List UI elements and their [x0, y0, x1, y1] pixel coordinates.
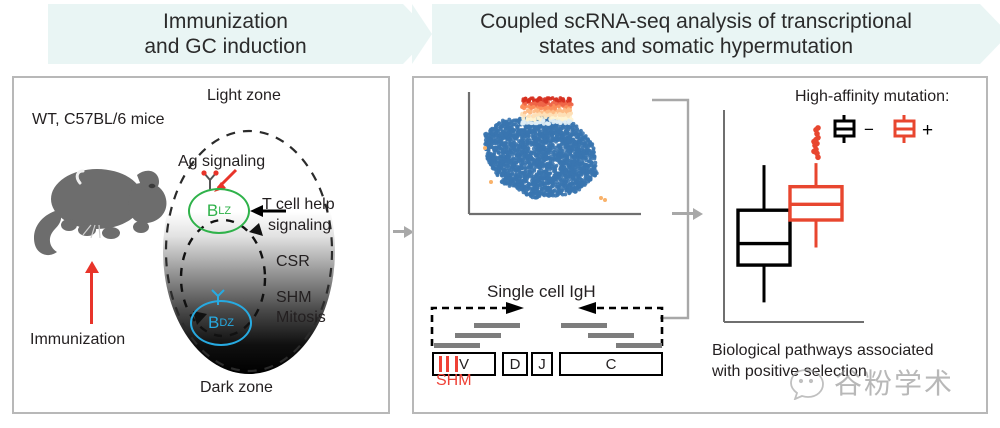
read-segment: [561, 323, 607, 328]
shm-label-gc: SHM: [276, 288, 312, 307]
shm-tick-icon: [455, 356, 458, 372]
gene-segment-d: D: [502, 352, 528, 376]
watermark: 谷粉学术: [790, 358, 980, 416]
b-cell-light-zone: BLZ: [188, 188, 250, 234]
banner-notch-icon: [412, 4, 432, 64]
immunization-label: Immunization: [30, 330, 125, 349]
panel-connector-arrow-icon: [393, 230, 405, 233]
banner-immunization-line1: Immunization: [144, 9, 306, 34]
read-pair-brackets-icon: [428, 302, 678, 348]
gene-segment-j-label: J: [538, 356, 546, 373]
read-segment: [474, 323, 520, 328]
b-cell-dz-sub: DZ: [219, 317, 234, 329]
igh-gene-diagram: V D J C SHM: [428, 280, 678, 400]
read-segment: [455, 333, 501, 338]
legend-positive-symbol: +: [922, 120, 933, 141]
b-cell-lz-sub: LZ: [218, 205, 231, 217]
gene-segment-j: J: [531, 352, 553, 376]
gene-segment-v-label: V: [459, 356, 469, 373]
wechat-icon: [790, 366, 832, 400]
b-cell-dz-letter: B: [208, 313, 219, 333]
boxplot-chart: [712, 108, 892, 340]
shm-tick-icon: [439, 356, 442, 372]
read-segment: [588, 333, 634, 338]
banner-scrnaseq: Coupled scRNA-seq analysis of transcript…: [412, 4, 980, 64]
umap-scatter-plot: [455, 86, 655, 228]
gene-segment-c-label: C: [606, 356, 617, 373]
read-segment: [616, 343, 662, 348]
banner-immunization-text: Immunization and GC induction: [144, 9, 306, 59]
banner-scrnaseq-line1: Coupled scRNA-seq analysis of transcript…: [480, 9, 912, 34]
b-cell-dark-zone: BDZ: [190, 300, 252, 346]
immunization-arrow-icon: [90, 272, 93, 324]
read-segment: [434, 343, 480, 348]
light-zone-label: Light zone: [207, 86, 281, 105]
legend-title: High-affinity mutation:: [795, 88, 949, 106]
gene-segment-d-label: D: [510, 356, 521, 373]
banner-scrnaseq-line2: states and somatic hypermutation: [480, 34, 912, 59]
mouse-illustration-icon: [25, 155, 175, 260]
shm-tick-icon: [446, 356, 449, 372]
banner-immunization: Immunization and GC induction: [48, 4, 403, 64]
banner-immunization-line2: and GC induction: [144, 34, 306, 59]
legend-box-positive-icon: [895, 115, 914, 143]
watermark-text: 谷粉学术: [834, 362, 954, 402]
mitosis-label: Mitosis: [276, 308, 326, 327]
mouse-strain-label: WT, C57BL/6 mice: [32, 110, 164, 129]
banner-chevron-icon-2: [980, 4, 1000, 64]
banner-scrnaseq-text: Coupled scRNA-seq analysis of transcript…: [480, 9, 912, 59]
shm-label-igh: SHM: [436, 372, 472, 390]
gene-segment-c: C: [559, 352, 663, 376]
b-cell-lz-letter: B: [207, 201, 218, 221]
csr-label: CSR: [276, 252, 310, 271]
figure-canvas: Immunization and GC induction Coupled sc…: [0, 0, 1000, 428]
t-cell-help-label-line2: signaling: [268, 216, 331, 235]
dark-zone-label: Dark zone: [200, 378, 273, 397]
t-cell-help-label-line1: T cell help: [262, 195, 335, 214]
